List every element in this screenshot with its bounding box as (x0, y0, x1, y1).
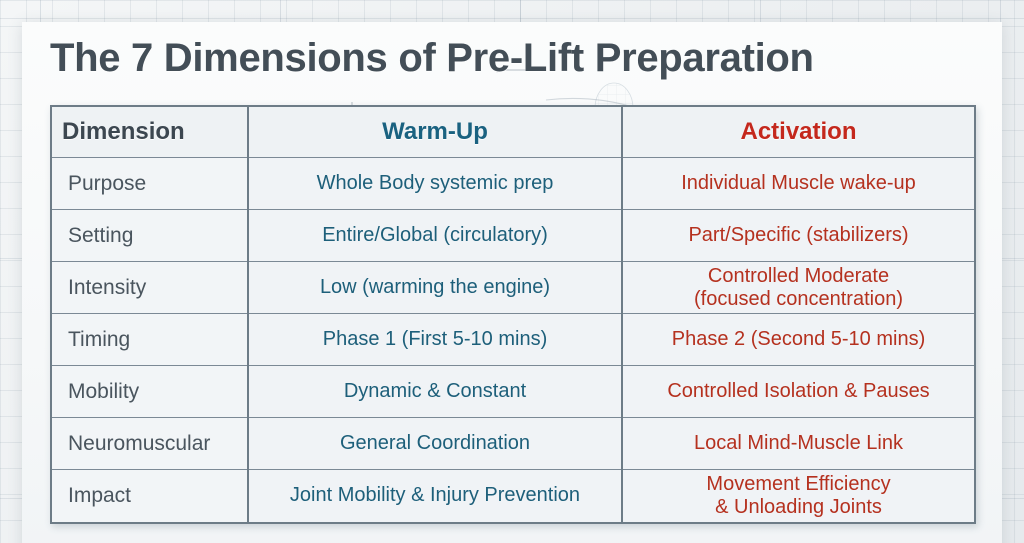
cell-activation: Local Mind-Muscle Link (622, 418, 974, 470)
cell-dimension: Timing (52, 314, 248, 366)
cell-dimension: Impact (52, 470, 248, 522)
table-row: Neuromuscular General Coordination Local… (52, 418, 974, 470)
cell-dimension: Neuromuscular (52, 418, 248, 470)
screenshot-canvas: The 7 Dimensions of Pre-Lift Preparation… (0, 0, 1024, 543)
table-row: Impact Joint Mobility & Injury Preventio… (52, 470, 974, 522)
cell-warmup: Whole Body systemic prep (248, 158, 622, 210)
comparison-table-container: Dimension Warm-Up Activation Purpose Who… (50, 105, 976, 524)
cell-activation: Individual Muscle wake-up (622, 158, 974, 210)
comparison-table: Dimension Warm-Up Activation Purpose Who… (52, 107, 974, 522)
cell-dimension: Mobility (52, 366, 248, 418)
column-header-dimension: Dimension (52, 107, 248, 158)
cell-warmup: Joint Mobility & Injury Prevention (248, 470, 622, 522)
cell-activation: Phase 2 (Second 5-10 mins) (622, 314, 974, 366)
cell-warmup: Low (warming the engine) (248, 262, 622, 314)
column-header-warmup: Warm-Up (248, 107, 622, 158)
content-card: The 7 Dimensions of Pre-Lift Preparation… (22, 22, 1002, 543)
cell-warmup: General Coordination (248, 418, 622, 470)
table-row: Timing Phase 1 (First 5-10 mins) Phase 2… (52, 314, 974, 366)
column-header-activation: Activation (622, 107, 974, 158)
cell-warmup: Phase 1 (First 5-10 mins) (248, 314, 622, 366)
cell-activation: Controlled Isolation & Pauses (622, 366, 974, 418)
page-title: The 7 Dimensions of Pre-Lift Preparation (50, 36, 814, 81)
cell-dimension: Setting (52, 210, 248, 262)
cell-activation: Part/Specific (stabilizers) (622, 210, 974, 262)
cell-activation-line1: Controlled Moderate (633, 265, 964, 287)
cell-activation: Controlled Moderate (focused concentrati… (622, 262, 974, 314)
cell-activation-line2: & Unloading Joints (633, 496, 964, 518)
table-header-row: Dimension Warm-Up Activation (52, 107, 974, 158)
cell-dimension: Purpose (52, 158, 248, 210)
table-row: Intensity Low (warming the engine) Contr… (52, 262, 974, 314)
cell-warmup: Dynamic & Constant (248, 366, 622, 418)
cell-activation-line2: (focused concentration) (633, 288, 964, 310)
table-row: Purpose Whole Body systemic prep Individ… (52, 158, 974, 210)
table-row: Setting Entire/Global (circulatory) Part… (52, 210, 974, 262)
cell-warmup: Entire/Global (circulatory) (248, 210, 622, 262)
cell-activation: Movement Efficiency & Unloading Joints (622, 470, 974, 522)
cell-dimension: Intensity (52, 262, 248, 314)
table-header: Dimension Warm-Up Activation (52, 107, 974, 158)
cell-activation-line1: Movement Efficiency (633, 473, 964, 495)
table-row: Mobility Dynamic & Constant Controlled I… (52, 366, 974, 418)
table-body: Purpose Whole Body systemic prep Individ… (52, 158, 974, 522)
